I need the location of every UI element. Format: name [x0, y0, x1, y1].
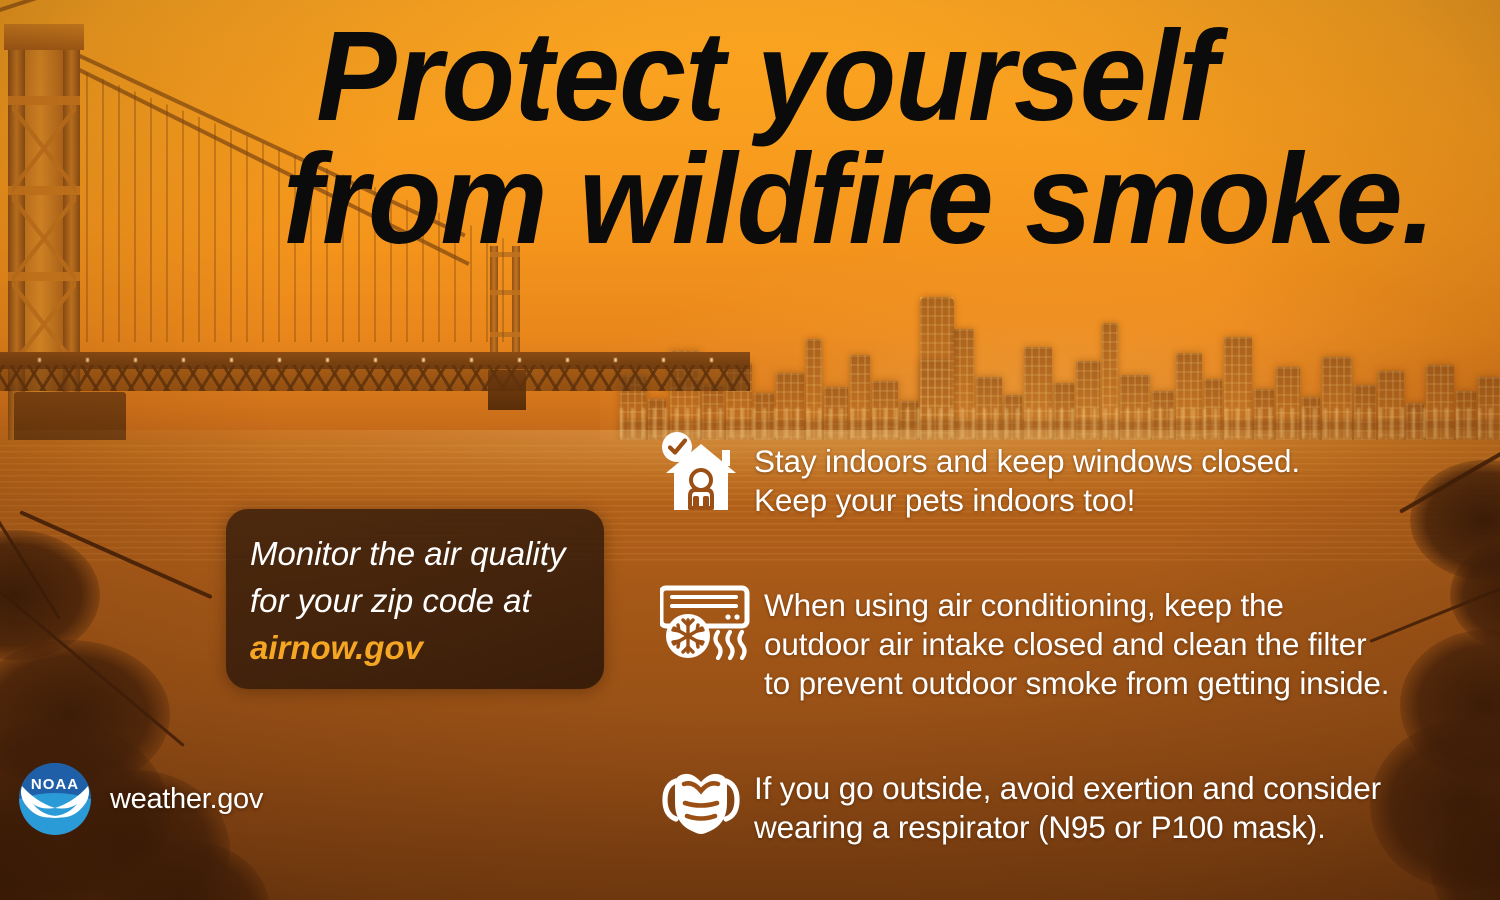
headline-line-2: from wildfire smoke. — [45, 139, 1451, 262]
air-conditioner-snowflake-icon — [660, 582, 752, 666]
tip-0-line-1: Stay indoors and keep windows closed. — [754, 443, 1300, 479]
tip-1-line-2: outdoor air intake closed and clean the … — [764, 626, 1366, 662]
tip-text-respirator: If you go outside, avoid exertion and co… — [742, 761, 1381, 847]
wildfire-smoke-infographic: Protect yourself from wildfire smoke. Mo… — [0, 0, 1500, 900]
airnow-callout-box: Monitor the air quality for your zip cod… — [226, 509, 604, 689]
face-mask-respirator-icon — [660, 761, 742, 845]
tip-2-line-2: wearing a respirator (N95 or P100 mask). — [754, 809, 1326, 845]
headline-line-1: Protect yourself — [45, 16, 1451, 139]
page-title: Protect yourself from wildfire smoke. — [45, 16, 1451, 262]
callout-line-2: for your zip code at — [250, 582, 531, 619]
tip-0-line-2: Keep your pets indoors too! — [754, 482, 1135, 518]
tip-item-respirator: If you go outside, avoid exertion and co… — [660, 761, 1490, 847]
noaa-logo-text: NOAA — [31, 776, 79, 793]
tip-item-air-conditioning: When using air conditioning, keep the ou… — [660, 582, 1490, 703]
weather-gov-label: weather.gov — [110, 783, 263, 816]
noaa-logo-icon: NOAA — [18, 762, 92, 836]
tip-text-stay-indoors: Stay indoors and keep windows closed. Ke… — [742, 430, 1300, 520]
tip-2-line-1: If you go outside, avoid exertion and co… — [754, 770, 1381, 806]
airnow-gov-link[interactable]: airnow.gov — [250, 625, 588, 672]
tip-1-line-3: to prevent outdoor smoke from getting in… — [764, 665, 1389, 701]
callout-text: Monitor the air quality for your zip cod… — [250, 531, 588, 672]
noaa-weather-gov-branding: NOAA weather.gov — [18, 762, 263, 836]
tip-text-air-conditioning: When using air conditioning, keep the ou… — [752, 582, 1389, 703]
tip-item-stay-indoors: Stay indoors and keep windows closed. Ke… — [660, 430, 1490, 520]
callout-line-1: Monitor the air quality — [250, 535, 565, 572]
safety-tips-list: Stay indoors and keep windows closed. Ke… — [660, 430, 1490, 847]
tip-1-line-1: When using air conditioning, keep the — [764, 587, 1284, 623]
house-with-person-check-icon — [660, 430, 742, 514]
